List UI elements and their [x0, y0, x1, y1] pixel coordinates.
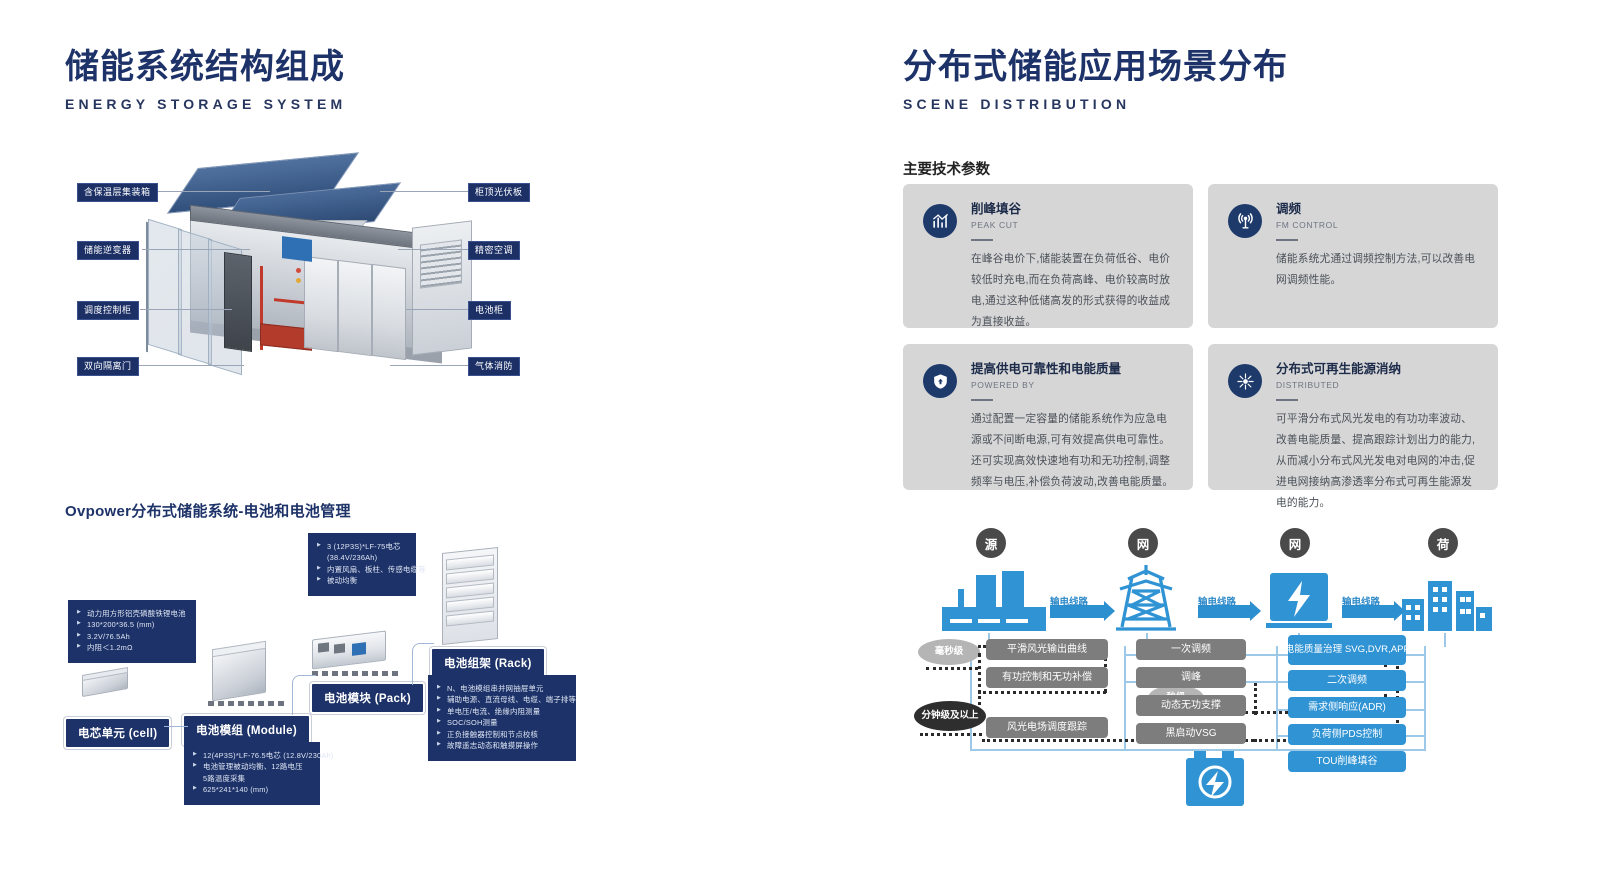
flow-arrow-label-2: 输电线路	[1198, 594, 1236, 608]
dotted-route-1-vert	[978, 653, 981, 713]
cell-spec-item: 3.2V/76.5Ah	[77, 631, 187, 642]
battery-section-title: Ovpower分布式储能系统-电池和电池管理	[65, 500, 351, 521]
scene-distribution-flow-diagram: 源 网 网 荷	[900, 515, 1540, 815]
card-body: 可平滑分布式风光发电的有功功率波动、改善电能质量、提高跟踪计划出力的能力,从而减…	[1276, 409, 1480, 513]
card-subtitle: DISTRIBUTED	[1276, 380, 1480, 390]
leader-line-right-1	[380, 191, 468, 192]
rack-spec-item: SOC/SOH测量	[437, 717, 567, 728]
panel-frame-edge	[146, 222, 148, 353]
bar-chart-icon	[923, 204, 957, 238]
pack-indicator	[352, 642, 366, 656]
params-section-title: 主要技术参数	[903, 158, 990, 179]
right-title-cn: 分布式储能应用场景分布	[903, 48, 1288, 87]
battery-cabinet-3	[372, 264, 406, 360]
status-led-red	[296, 268, 301, 273]
flow-arrow-label-3: 输电线路	[1342, 594, 1380, 608]
energy-storage-container-illustration: 含保温层集装箱 储能逆变器 调度控制柜 双向隔离门 柜顶光伏板 精密空调 电池柜…	[60, 150, 540, 400]
callout-label-battery-cabinet: 电池柜	[468, 301, 511, 320]
city-buildings-icon	[1400, 563, 1494, 635]
transmission-tower-icon-1	[1106, 561, 1186, 635]
dotted-route-1	[926, 667, 978, 670]
flow-item-secondary-frequency-regulation[interactable]: 二次调频	[1288, 670, 1406, 691]
flow-item-power-quality-treatment[interactable]: 电能质量治理 SVG,DVR,APF	[1288, 635, 1406, 665]
callout-label-rooftop-pv: 柜顶光伏板	[468, 183, 530, 202]
card-body: 通过配置一定容量的储能系统作为应急电源或不间断电源,可有效提高供电可靠性。还可实…	[971, 409, 1175, 492]
battery-lightning-icon	[1182, 749, 1248, 811]
left-section-heading: 储能系统结构组成 ENERGY STORAGE SYSTEM	[65, 48, 346, 112]
grid-line-vert-4	[1424, 646, 1426, 750]
cell-spec-box: 动力用方形铝壳磷酸铁锂电池 130*200*36.5 (mm) 3.2V/76.…	[68, 600, 196, 663]
pack-port-1	[318, 642, 329, 652]
flow-item-smooth-output-curve[interactable]: 平滑风光输出曲线	[986, 639, 1108, 660]
flow-item-primary-frequency-regulation[interactable]: 一次调频	[1136, 639, 1246, 660]
pack-spec-box: 3 (12P3S)*LF-75电芯 (38.4V/236Ah) 内置风扇、板柱、…	[308, 533, 416, 596]
card-body: 储能系统尤通过调频控制方法,可以改善电网调频性能。	[1276, 249, 1480, 291]
module-spec-item: 12(4P3S)*LF-76.5电芯 (12.8V/230Ah)	[193, 750, 311, 761]
rack-spec-item: 单电压/电流、绝缘内阻测量	[437, 706, 567, 717]
insulation-panel-1	[148, 219, 182, 355]
card-body: 在峰谷电价下,储能装置在负荷低谷、电价较低时充电,而在负荷高峰、电价较高时放电,…	[971, 249, 1175, 332]
leader-line-right-4	[390, 365, 470, 366]
card-subtitle: PEAK CUT	[971, 220, 1175, 230]
ac-louver-vent	[420, 239, 462, 288]
pack-port-2	[334, 643, 345, 653]
card-title: 调频	[1276, 202, 1480, 218]
connector-pack-to-rack	[412, 643, 434, 685]
chip-cell-unit: 电芯单元 (cell)	[64, 717, 171, 749]
pack-spec-item: 3 (12P3S)*LF-75电芯	[317, 541, 407, 552]
energy-storage-inverter	[224, 252, 252, 352]
card-divider	[971, 399, 993, 402]
dotted-route-2	[920, 733, 982, 736]
pack-spec-item: 内置风扇、板柱、传感电缆等	[317, 564, 407, 575]
node-badge-grid-1: 网	[1128, 528, 1158, 558]
flow-arrow-label-1: 输电线路	[1050, 594, 1088, 608]
callout-label-inverter: 储能逆变器	[77, 241, 139, 260]
battery-chain-diagram: 动力用方形铝壳磷酸铁锂电池 130*200*36.5 (mm) 3.2V/76.…	[60, 525, 580, 790]
module-terminal-dots	[208, 701, 284, 706]
callout-label-control-cabinet: 调度控制柜	[77, 301, 139, 320]
left-title-cn: 储能系统结构组成	[65, 48, 346, 87]
right-section-heading: 分布式储能应用场景分布 SCENE DISTRIBUTION	[903, 48, 1288, 112]
param-card-power-reliability[interactable]: 提高供电可靠性和电能质量 POWERED BY 通过配置一定容量的储能系统作为应…	[903, 344, 1193, 490]
cell-spec-item: 130*200*36.5 (mm)	[77, 619, 187, 630]
callout-label-insulated-container: 含保温层集装箱	[77, 183, 158, 202]
grid-line-vert-2	[1124, 646, 1126, 750]
pack-spec-subitem: (38.4V/236Ah)	[317, 552, 407, 563]
card-divider	[971, 239, 993, 242]
card-subtitle: POWERED BY	[971, 380, 1175, 390]
callout-label-precision-ac: 精密空调	[468, 241, 520, 260]
node-badge-source: 源	[976, 528, 1006, 558]
module-spec-item: 电池管理被动均衡、12路电压	[193, 761, 311, 772]
module-spec-item: 625*241*140 (mm)	[193, 784, 311, 795]
param-card-peak-cut[interactable]: 削峰填谷 PEAK CUT 在峰谷电价下,储能装置在负荷低谷、电价较低时充电,而…	[903, 184, 1193, 328]
drop-line-load	[1444, 633, 1446, 647]
connector-cell-to-module	[164, 705, 188, 727]
substation-icon	[1264, 565, 1334, 633]
node-badge-load: 荷	[1428, 528, 1458, 558]
node-badge-grid-2: 网	[1280, 528, 1310, 558]
cell-spec-item: 动力用方形铝壳磷酸铁锂电池	[77, 608, 187, 619]
frequency-antenna-icon	[1228, 204, 1262, 238]
cell-spec-item: 内阻＜1.2mΩ	[77, 642, 187, 653]
connector-module-to-pack	[292, 675, 316, 715]
card-title: 削峰填谷	[971, 202, 1175, 218]
rack-spec-box: N、电池模组串并网抽屉单元 辅助电源、直流母线、电缆、端子排等 单电压/电流、绝…	[428, 675, 576, 761]
status-led-amber	[296, 278, 301, 283]
leader-line-left-3	[140, 309, 232, 310]
inverter-display-strip	[282, 236, 312, 262]
callout-label-isolation-door: 双向隔离门	[77, 357, 139, 376]
pack-spec-item: 被动均衡	[317, 575, 407, 586]
flow-item-demand-response-adr[interactable]: 需求侧响应(ADR)	[1288, 697, 1406, 718]
battery-cabinet-1	[304, 256, 338, 352]
param-card-distributed-renewable[interactable]: 分布式可再生能源消纳 DISTRIBUTED 可平滑分布式风光发电的有功功率波动…	[1208, 344, 1498, 490]
pack-terminal-dots	[312, 671, 398, 676]
param-card-fm-control[interactable]: 调频 FM CONTROL 储能系统尤通过调频控制方法,可以改善电网调频性能。	[1208, 184, 1498, 328]
dotted-route-1-top	[978, 691, 1106, 694]
right-title-en: SCENE DISTRIBUTION	[903, 96, 1288, 112]
rack-spec-item: 正负接触器控制和节点校核	[437, 729, 567, 740]
card-divider	[1276, 399, 1298, 402]
tier-minute-and-above: 分钟级及以上	[914, 701, 986, 731]
flow-item-load-side-pds-control[interactable]: 负荷侧PDS控制	[1288, 724, 1406, 745]
flow-item-black-start-vsg[interactable]: 黑启动VSG	[1136, 723, 1246, 744]
flow-item-wind-solar-dispatch-tracking[interactable]: 风光电场调度跟踪	[986, 717, 1108, 738]
flow-item-dynamic-reactive-support[interactable]: 动态无功支撑	[1136, 695, 1246, 716]
leader-line-left-4	[138, 365, 244, 366]
leader-line-right-2	[398, 249, 470, 250]
rack-spec-item: N、电池模组串并网抽屉单元	[437, 683, 567, 694]
card-divider	[1276, 239, 1298, 242]
left-title-en: ENERGY STORAGE SYSTEM	[65, 96, 346, 112]
leader-line-left-2	[142, 249, 250, 250]
rack-spec-item: 故障遥志动态和触摸屏操作	[437, 740, 567, 751]
module-spec-box: 12(4P3S)*LF-76.5电芯 (12.8V/230Ah) 电池管理被动均…	[184, 742, 320, 805]
flow-item-tou-peak-shaving[interactable]: TOU削峰填谷	[1288, 751, 1406, 772]
leader-line-left-1	[150, 191, 270, 192]
flow-item-active-reactive-compensation[interactable]: 有功控制和无功补偿	[986, 667, 1108, 688]
snowflake-distributed-icon	[1228, 364, 1262, 398]
flow-item-peak-shaving[interactable]: 调峰	[1136, 667, 1246, 688]
battery-cabinet-2	[338, 260, 372, 356]
chip-battery-pack: 电池模块 (Pack)	[310, 682, 425, 714]
shield-icon	[923, 364, 957, 398]
card-subtitle: FM CONTROL	[1276, 220, 1480, 230]
callout-label-gas-fire-protection: 气体消防	[468, 357, 520, 376]
slide-page: 储能系统结构组成 ENERGY STORAGE SYSTEM 分布式储能应用场景…	[0, 0, 1600, 886]
tier-millisecond: 毫秒级	[918, 639, 980, 665]
module-spec-subitem: 5路温度采集	[193, 773, 311, 784]
rack-spec-item: 辅助电源、直流母线、电缆、端子排等	[437, 694, 567, 705]
card-title: 分布式可再生能源消纳	[1276, 362, 1480, 378]
power-plant-icon	[936, 563, 1052, 635]
card-title: 提高供电可靠性和电能质量	[971, 362, 1175, 378]
leader-line-right-3	[406, 309, 470, 310]
